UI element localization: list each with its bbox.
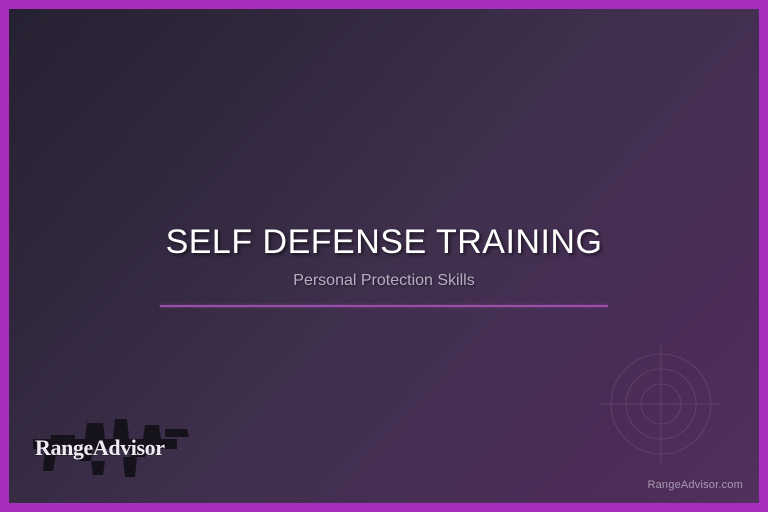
title-block: SELF DEFENSE TRAINING Personal Protectio… (9, 221, 759, 307)
title-divider (160, 305, 608, 307)
page-subtitle: Personal Protection Skills (9, 263, 759, 291)
page-title: SELF DEFENSE TRAINING (9, 221, 759, 263)
crosshair-target-icon (601, 344, 721, 464)
site-watermark: RangeAdvisor.com (647, 479, 743, 491)
slide-canvas: SELF DEFENSE TRAINING Personal Protectio… (9, 9, 759, 503)
slide-frame: SELF DEFENSE TRAINING Personal Protectio… (0, 0, 768, 512)
brand-logo[interactable]: RangeAdvisor (27, 415, 203, 479)
brand-wordmark: RangeAdvisor (35, 435, 165, 460)
